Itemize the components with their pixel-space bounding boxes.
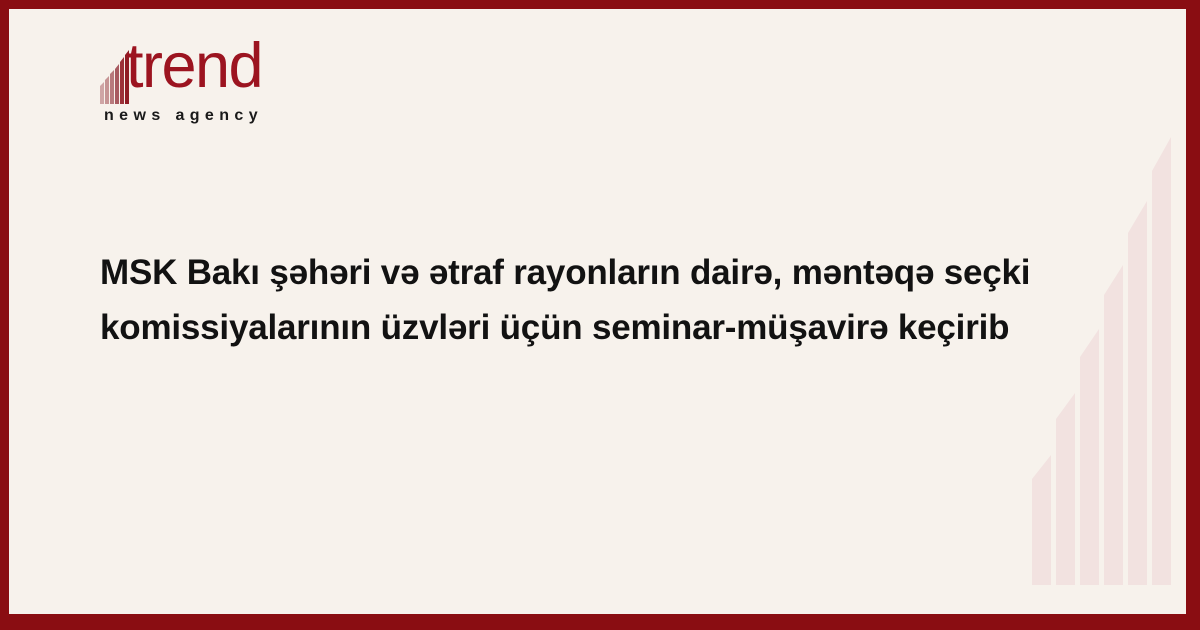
- decoration-bar-6: [1152, 137, 1171, 585]
- decoration-bar-5: [1128, 201, 1147, 585]
- logo-bar-1: [100, 82, 104, 104]
- decoration-bar-2: [1056, 393, 1075, 585]
- logo-bar-3: [110, 70, 114, 104]
- logo-bar-2: [105, 76, 109, 104]
- social-share-card: trend news agency MSK Bakı şəhəri və ətr…: [0, 0, 1200, 630]
- logo-bar-5: [120, 57, 124, 104]
- card-canvas: trend news agency MSK Bakı şəhəri və ətr…: [9, 9, 1186, 614]
- decoration-bar-3: [1080, 329, 1099, 585]
- logo-wordmark: trend: [126, 35, 262, 98]
- decoration-bar-4: [1104, 265, 1123, 585]
- headline-text: MSK Bakı şəhəri və ətraf rayonların dair…: [100, 245, 1080, 355]
- logo-bar-4: [115, 64, 119, 104]
- trend-news-agency-logo[interactable]: trend news agency: [91, 40, 391, 140]
- logo-tagline: news agency: [104, 108, 263, 124]
- decoration-bar-1: [1032, 455, 1051, 585]
- logo-mark: trend: [100, 48, 270, 104]
